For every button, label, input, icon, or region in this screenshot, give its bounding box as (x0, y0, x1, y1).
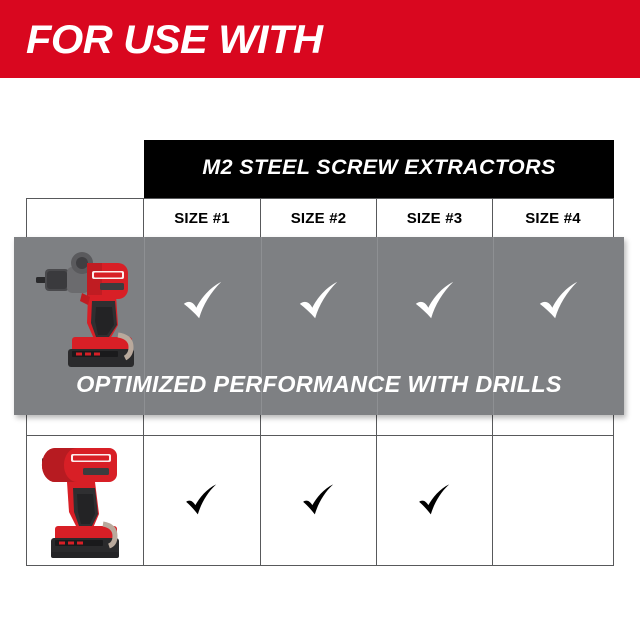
column-header-label: SIZE #1 (174, 210, 230, 227)
category-header-band: M2 STEEL SCREW EXTRACTORS (144, 140, 614, 198)
table-cell-impact-size-3 (377, 436, 493, 566)
table-cell-impact-size-2 (261, 436, 377, 566)
column-header-label: SIZE #2 (291, 210, 347, 227)
drill-row-banner-label: OPTIMIZED PERFORMANCE WITH DRILLS (8, 371, 630, 398)
drill-row-overlay: OPTIMIZED PERFORMANCE WITH DRILLS (14, 237, 624, 415)
check-icon (415, 481, 455, 521)
table-header-corner-cell (27, 199, 144, 238)
column-header-label: SIZE #3 (407, 210, 463, 227)
column-header-size-1: SIZE #1 (144, 199, 261, 238)
column-header-size-4: SIZE #4 (493, 199, 613, 238)
category-header-label: M2 STEEL SCREW EXTRACTORS (139, 156, 618, 180)
table-row-impact-tool-cell (27, 436, 144, 566)
header-band: FOR USE WITH (0, 0, 640, 78)
check-icon (182, 481, 222, 521)
column-header-label: SIZE #4 (525, 210, 581, 227)
table-cell-impact-size-4 (493, 436, 613, 566)
page-title: FOR USE WITH (26, 18, 322, 62)
table-cell-impact-size-1 (144, 436, 261, 566)
row-divider (26, 435, 614, 436)
column-header-size-2: SIZE #2 (261, 199, 377, 238)
impact-driver-icon (37, 438, 133, 564)
column-header-size-3: SIZE #3 (377, 199, 493, 238)
hammer-drill-icon (32, 245, 138, 371)
check-icon (299, 481, 339, 521)
